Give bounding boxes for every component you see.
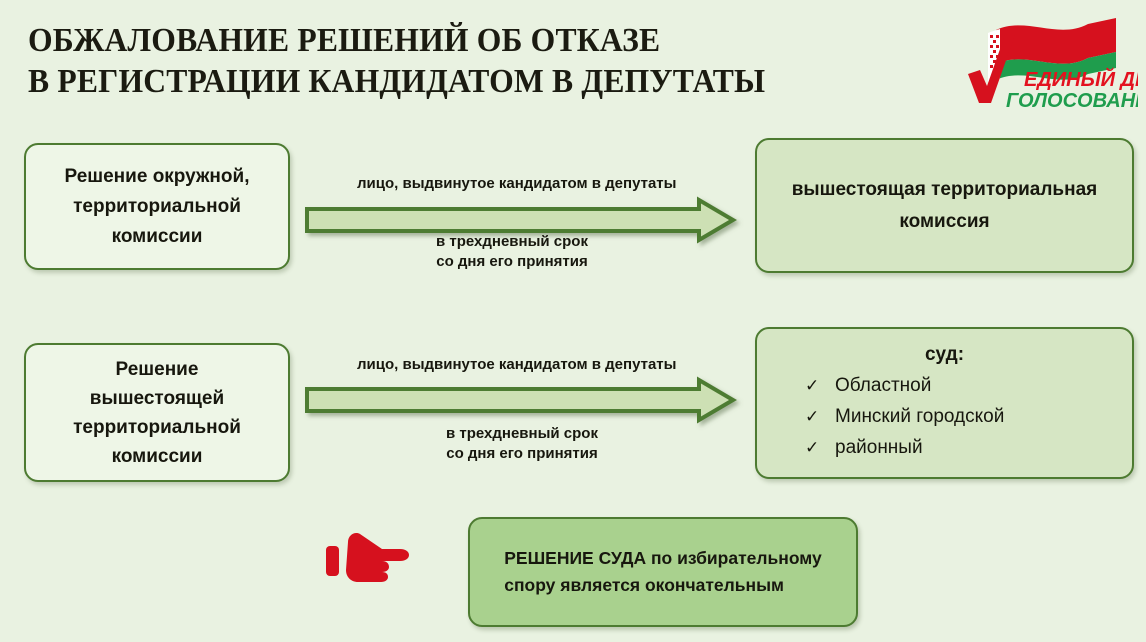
box-superior-commission-decision: Решение вышестоящей территориальной коми… [24,343,290,482]
box-decision2-line-3: территориальной [73,417,241,438]
court-heading: суд: [805,344,1122,366]
court-option-label: районный [835,432,923,463]
page-title-line-1: ОБЖАЛОВАНИЕ РЕШЕНИЙ ОБ ОТКАЗЕ [28,20,846,61]
final-text-line-1: РЕШЕНИЕ СУДА по избирательному [504,545,822,572]
check-icon: ✓ [805,370,835,401]
arrow-1-label-bottom: в трехдневный срок со дня его принятия [436,232,588,272]
box-superior-line-2: комиссия [899,211,989,232]
arrow-1-label-top-text: лицо, выдвинутое кандидатом в депутаты [357,174,676,194]
arrow-2-label-bottom-line-1: в трехдневный срок [446,424,598,444]
box-district-commission-decision: Решение окружной, территориальной комисс… [24,143,290,270]
box-decision2-line-1: Решение [116,359,199,380]
single-voting-day-logo: ЕДИНЫЙ ДЕНЬ ГОЛОСОВАНИЯ [966,8,1138,112]
box-decision2-line-2: вышестоящей [90,388,224,409]
list-item: ✓ районный [805,432,1122,463]
arrow-2-label-bottom: в трехдневный срок со дня его принятия [446,424,598,464]
check-icon: ✓ [805,401,835,432]
check-icon: ✓ [805,432,835,463]
flow-arrow-2 [305,378,735,422]
arrow-2-label-top: лицо, выдвинутое кандидатом в депутаты [357,355,676,375]
box-district-line-3: комиссии [112,226,203,247]
arrow-2-label-top-text: лицо, выдвинутое кандидатом в депутаты [357,355,676,375]
list-item: ✓ Областной [805,370,1122,401]
box-district-line-1: Решение окружной, [65,166,250,187]
box-final-court-decision: РЕШЕНИЕ СУДА по избирательному спору явл… [468,517,858,627]
court-option-label: Областной [835,370,931,401]
pointing-hand-icon [324,528,412,590]
arrow-2-label-bottom-line-2: со дня его принятия [446,444,598,464]
logo-line-1: ЕДИНЫЙ ДЕНЬ [1024,67,1138,91]
box-superior-line-1: вышестоящая территориальная [792,179,1097,200]
list-item: ✓ Минский городской [805,401,1122,432]
court-option-label: Минский городской [835,401,1004,432]
logo-line-2: ГОЛОСОВАНИЯ [1006,90,1138,112]
box-decision2-line-4: комиссии [112,446,203,467]
slide-root: ОБЖАЛОВАНИЕ РЕШЕНИЙ ОБ ОТКАЗЕ В РЕГИСТРА… [0,0,1146,642]
page-title: ОБЖАЛОВАНИЕ РЕШЕНИЙ ОБ ОТКАЗЕ В РЕГИСТРА… [28,20,846,102]
final-text-line-2: спору является окончательным [504,572,822,599]
box-district-line-2: территориальной [73,196,241,217]
arrow-1-label-bottom-line-1: в трехдневный срок [436,232,588,252]
arrow-1-label-top: лицо, выдвинутое кандидатом в депутаты [357,174,676,194]
court-options-list: ✓ Областной ✓ Минский городской ✓ районн… [805,370,1122,463]
box-court-list: суд: ✓ Областной ✓ Минский городской ✓ р… [755,327,1134,479]
page-title-line-2: В РЕГИСТРАЦИИ КАНДИДАТОМ В ДЕПУТАТЫ [28,61,846,102]
box-superior-territorial-commission: вышестоящая территориальная комиссия [755,138,1134,273]
arrow-1-label-bottom-line-2: со дня его принятия [436,252,588,272]
